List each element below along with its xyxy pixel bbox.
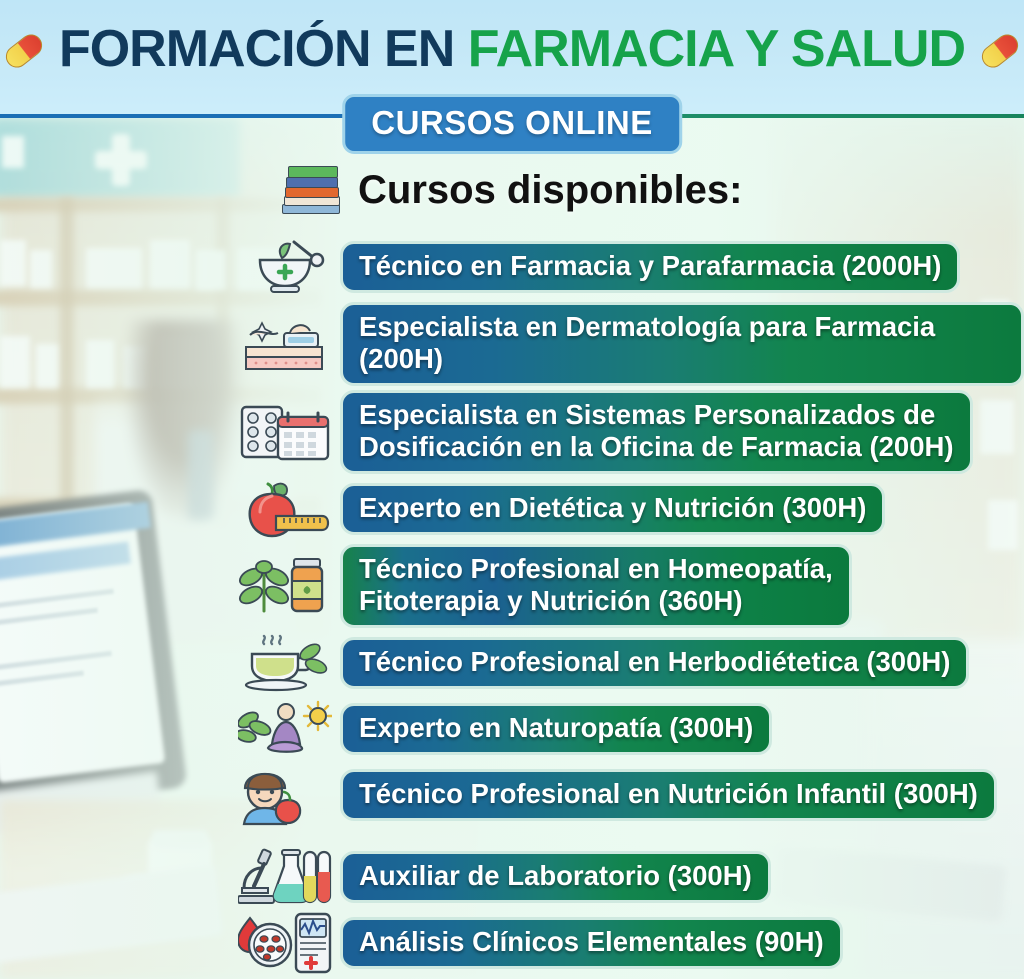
microscope-flask-icon <box>238 846 332 908</box>
course-row[interactable]: Auxiliar de Laboratorio (300H) <box>0 846 1024 908</box>
pill-capsule-icon-left <box>2 30 46 74</box>
course-chip[interactable]: Técnico Profesional en Nutrición Infanti… <box>340 769 997 821</box>
blood-analysis-icon <box>238 912 332 974</box>
books-icon <box>282 166 344 214</box>
subtitle-text: Cursos disponibles: <box>358 170 743 210</box>
course-row[interactable]: Técnico Profesional en Homeopatía, Fitot… <box>0 544 1024 628</box>
course-row[interactable]: Técnico Profesional en Nutrición Infanti… <box>0 764 1024 826</box>
apple-tape-icon <box>238 478 332 540</box>
course-chip[interactable]: Auxiliar de Laboratorio (300H) <box>340 851 771 903</box>
course-chip[interactable]: Técnico Profesional en Homeopatía, Fitot… <box>340 544 852 628</box>
meditation-sun-icon <box>238 698 332 760</box>
poster: FORMACIÓN EN FARMACIA Y SALUD CURSOS ONL… <box>0 0 1024 979</box>
course-row[interactable]: Técnico en Farmacia y Parafarmacia (2000… <box>0 236 1024 298</box>
course-chip[interactable]: Análisis Clínicos Elementales (90H) <box>340 917 843 969</box>
page-title: FORMACIÓN EN FARMACIA Y SALUD <box>0 19 1024 79</box>
course-row[interactable]: Análisis Clínicos Elementales (90H) <box>0 912 1024 974</box>
cursos-online-badge[interactable]: CURSOS ONLINE <box>342 94 682 154</box>
pill-capsule-icon-right <box>978 30 1022 74</box>
course-chip[interactable]: Técnico Profesional en Herbodiétetica (3… <box>340 637 969 689</box>
course-row[interactable]: Experto en Dietética y Nutrición (300H) <box>0 478 1024 540</box>
blister-calendar-icon <box>238 401 332 463</box>
course-chip[interactable]: Técnico en Farmacia y Parafarmacia (2000… <box>340 241 960 293</box>
course-row[interactable]: Especialista en Dermatología para Farmac… <box>0 302 1024 386</box>
course-chip[interactable]: Especialista en Dermatología para Farmac… <box>340 302 1024 386</box>
subtitle-row: Cursos disponibles: <box>282 166 743 214</box>
herbs-supplement-icon <box>238 555 332 617</box>
course-list: Técnico en Farmacia y Parafarmacia (2000… <box>0 236 1024 978</box>
skincare-cream-icon <box>238 313 332 375</box>
mortar-pestle-icon <box>238 236 332 298</box>
course-chip[interactable]: Experto en Naturopatía (300H) <box>340 703 772 755</box>
course-row[interactable]: Técnico Profesional en Herbodiétetica (3… <box>0 632 1024 694</box>
course-row[interactable]: Especialista en Sistemas Personalizados … <box>0 390 1024 474</box>
title-part-2: FARMACIA Y SALUD <box>468 20 965 78</box>
title-part-1: FORMACIÓN EN <box>59 20 468 78</box>
course-row[interactable]: Experto en Naturopatía (300H) <box>0 698 1024 760</box>
course-chip[interactable]: Especialista en Sistemas Personalizados … <box>340 390 973 474</box>
child-apple-icon <box>238 764 332 826</box>
herbal-tea-icon <box>238 632 332 694</box>
course-chip[interactable]: Experto en Dietética y Nutrición (300H) <box>340 483 885 535</box>
